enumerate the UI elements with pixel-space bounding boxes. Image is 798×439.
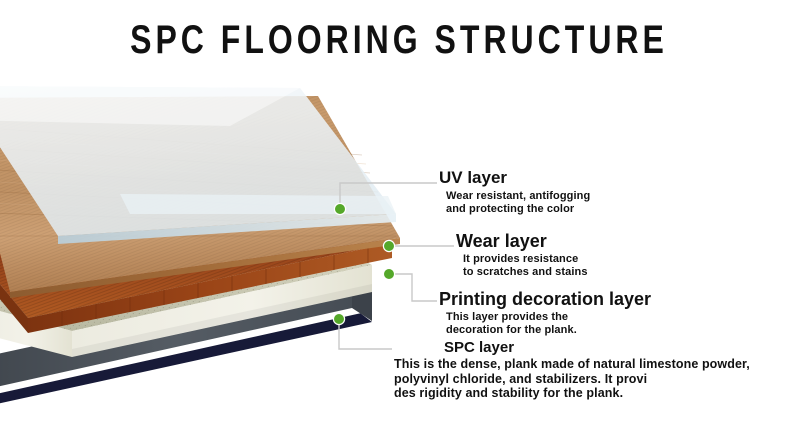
marker-wear-layer [383,240,394,251]
callout-wear-layer: Wear layer It provides resistance to scr… [456,231,588,278]
layer-uv [0,86,396,244]
callout-printing-line1: This layer provides the [446,311,651,324]
callout-printing-line2: decoration for the plank. [446,324,651,337]
callout-spc-line1: This is the dense, plank made of natural… [394,357,750,372]
callout-uv-body: Wear resistant, antifogging and protecti… [446,190,590,215]
callout-spc-layer: SPC layer This is the dense, plank made … [394,339,750,401]
callout-spc-body: This is the dense, plank made of natural… [394,357,750,401]
callout-uv-line2: and protecting the color [446,203,590,216]
callout-wear-body: It provides resistance to scratches and … [463,253,588,278]
marker-spc-layer [333,313,344,324]
callout-uv-title: UV layer [439,168,590,188]
callout-printing-layer: Printing decoration layer This layer pro… [439,289,651,336]
leader-printing [390,274,437,301]
callout-spc-line2: polyvinyl chloride, and stabilizers. It … [394,372,750,387]
callout-uv-layer: UV layer Wear resistant, antifogging and… [439,168,590,215]
callout-spc-title: SPC layer [444,339,750,357]
callout-uv-line1: Wear resistant, antifogging [446,190,590,203]
spc-flooring-infographic: SPC FLOORING STRUCTURE [0,0,798,439]
callout-printing-body: This layer provides the decoration for t… [446,311,651,336]
callout-spc-line3: des rigidity and stability for the plank… [394,386,750,401]
callout-wear-line2: to scratches and stains [463,266,588,279]
callout-printing-title: Printing decoration layer [439,289,651,310]
marker-printing-layer [383,268,394,279]
callout-wear-line1: It provides resistance [463,253,588,266]
callout-wear-title: Wear layer [456,231,588,252]
marker-uv-layer [334,203,345,214]
